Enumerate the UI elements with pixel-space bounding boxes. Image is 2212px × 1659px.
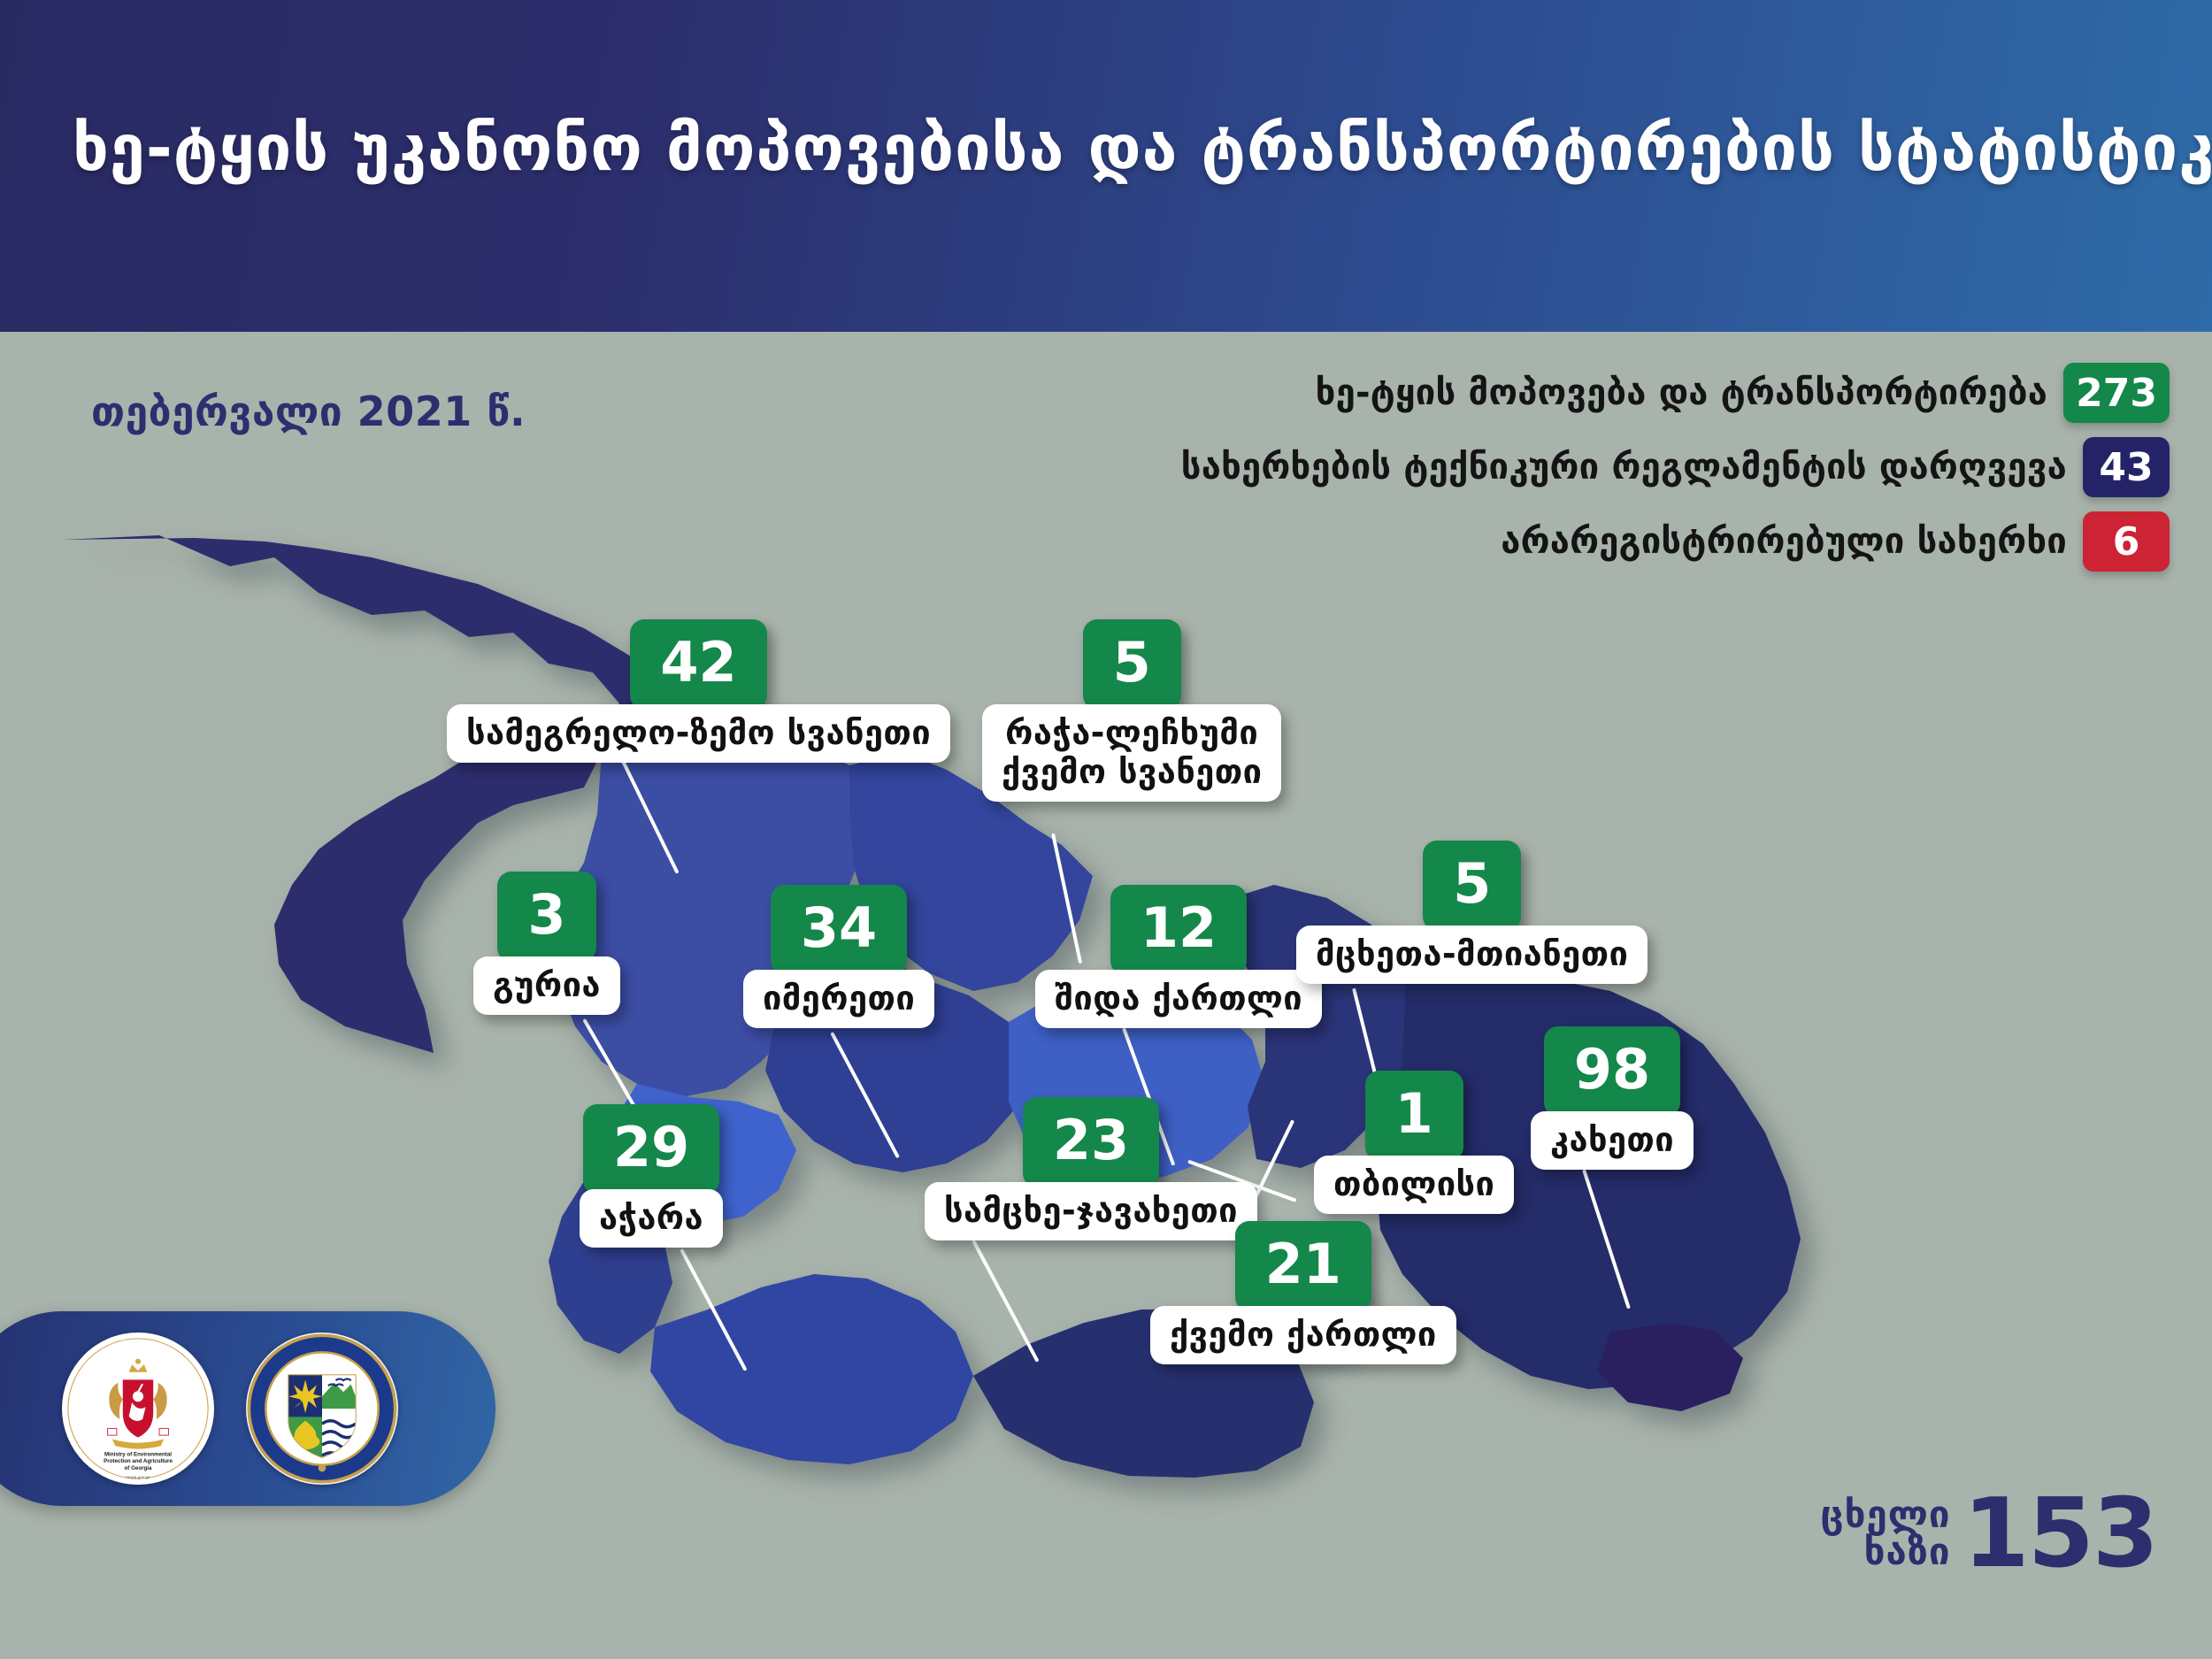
callout-name-tbilisi: თბილისი [1314, 1156, 1514, 1214]
callout-samtskhe-javakheti[interactable]: 23 სამცხე-ჯავახეთი [925, 1097, 1257, 1240]
callout-value-tbilisi: 1 [1365, 1071, 1463, 1161]
callout-kakheti[interactable]: 98 კახეთი [1531, 1026, 1694, 1170]
logo-bar: Ministry of Environmental Protection and… [0, 1311, 495, 1506]
callout-value-adjara: 29 [583, 1104, 719, 1194]
legend-label-sawmill-regulation: სახერხების ტექნიკური რეგლამენტის დარღვევ… [1181, 447, 2067, 488]
legend-value-unregistered-sawmill: 6 [2083, 511, 2170, 572]
svg-text:of Georgia: of Georgia [125, 1465, 152, 1471]
legend-label-violations: ხე-ტყის მოპოვება და ტრანსპორტირება [1316, 373, 2047, 413]
callout-value-samtskhe: 23 [1023, 1097, 1159, 1187]
callout-name-guria: გურია [473, 956, 620, 1015]
legend-item-violations: ხე-ტყის მოპოვება და ტრანსპორტირება 273 [1316, 363, 2170, 423]
callout-name-racha: რაჭა-ლეჩხუმი ქვემო სვანეთი [982, 704, 1281, 802]
supervision-seal-icon [246, 1333, 398, 1485]
callout-name-imereti: იმერეთი [743, 970, 934, 1028]
callout-name-samegrelo: სამეგრელო-ზემო სვანეთი [447, 704, 950, 763]
callout-value-shida-kartli: 12 [1110, 885, 1247, 975]
callout-name-kvemo-kartli: ქვემო ქართლი [1150, 1306, 1456, 1364]
callout-name-adjara: აჭარა [580, 1189, 723, 1248]
hotline: ცხელი ხაზი 153 [1820, 1490, 2157, 1578]
legend-item-sawmill-regulation: სახერხების ტექნიკური რეგლამენტის დარღვევ… [1181, 437, 2170, 497]
hotline-label-line1: ცხელი [1820, 1496, 1950, 1533]
svg-text:mepa.gov.ge: mepa.gov.ge [126, 1476, 150, 1480]
map-region-samtskhe-javakheti [650, 1274, 973, 1464]
callout-imereti[interactable]: 34 იმერეთი [743, 885, 934, 1028]
hotline-label-line2: ხაზი [1820, 1533, 1950, 1571]
callout-shida-kartli[interactable]: 12 შიდა ქართლი [1035, 885, 1322, 1028]
callout-guria[interactable]: 3 გურია [473, 872, 620, 1015]
callout-kvemo-kartli[interactable]: 21 ქვემო ქართლი [1150, 1221, 1456, 1364]
callout-mtskheta-mtianeti[interactable]: 5 მცხეთა-მთიანეთი [1296, 841, 1647, 984]
ministry-seal-icon: Ministry of Environmental Protection and… [62, 1333, 214, 1485]
callout-tbilisi[interactable]: 1 თბილისი [1314, 1071, 1514, 1214]
header-banner: ხე-ტყის უკანონო მოპოვებისა და ტრანსპორტი… [0, 0, 2212, 332]
callout-value-guria: 3 [497, 872, 595, 962]
callout-value-kvemo-kartli: 21 [1235, 1221, 1371, 1311]
callout-value-kakheti: 98 [1544, 1026, 1680, 1117]
callout-value-mtskheta: 5 [1423, 841, 1521, 931]
callout-value-racha: 5 [1083, 619, 1181, 710]
svg-text:Protection and Agriculture: Protection and Agriculture [104, 1458, 173, 1464]
svg-text:Ministry of Environmental: Ministry of Environmental [104, 1451, 172, 1457]
infographic-poster: ხე-ტყის უკანონო მოპოვებისა და ტრანსპორტი… [0, 0, 2212, 1659]
page-title: ხე-ტყის უკანონო მოპოვებისა და ტრანსპორტი… [73, 115, 2178, 182]
environmental-supervision-seal-logo [246, 1333, 398, 1485]
report-date: თებერვალი 2021 წ. [91, 388, 526, 435]
hotline-label: ცხელი ხაზი [1820, 1496, 1950, 1571]
callout-name-kakheti: კახეთი [1531, 1111, 1694, 1170]
hotline-number: 153 [1963, 1490, 2157, 1578]
callout-value-samegrelo: 42 [630, 619, 766, 710]
ministry-seal-logo: Ministry of Environmental Protection and… [62, 1333, 214, 1485]
callout-adjara[interactable]: 29 აჭარა [580, 1104, 723, 1248]
callout-racha-lechkhumi-kvemo-svaneti[interactable]: 5 რაჭა-ლეჩხუმი ქვემო სვანეთი [982, 619, 1281, 802]
callout-samegrelo-zemo-svaneti[interactable]: 42 სამეგრელო-ზემო სვანეთი [447, 619, 950, 763]
legend-value-violations: 273 [2063, 363, 2170, 423]
callout-name-shida-kartli: შიდა ქართლი [1035, 970, 1322, 1028]
callout-value-imereti: 34 [771, 885, 907, 975]
callout-name-mtskheta: მცხეთა-მთიანეთი [1296, 926, 1647, 984]
legend-value-sawmill-regulation: 43 [2083, 437, 2170, 497]
